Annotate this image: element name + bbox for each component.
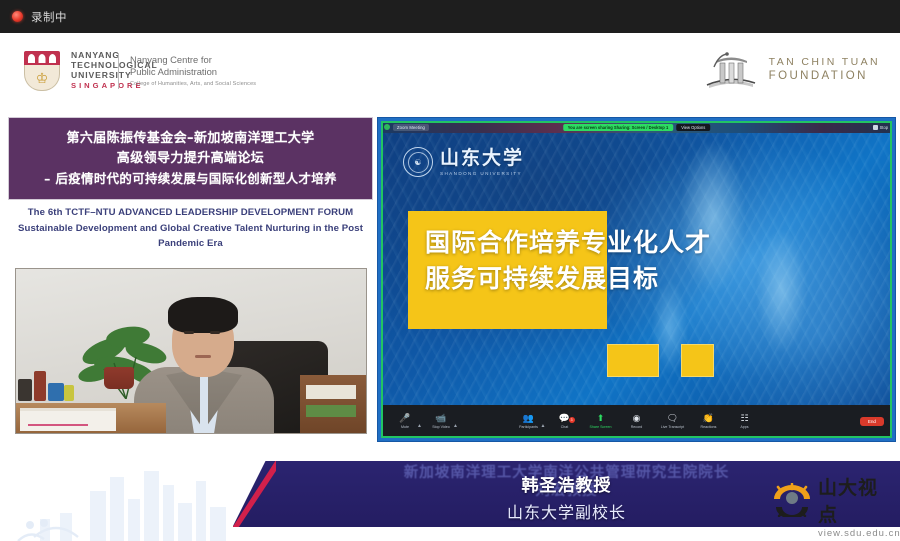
zoom-meeting-toolbar[interactable]: 🎤 Mute ▲ 📹 Stop Video ▲ 👥 Participants bbox=[381, 405, 892, 438]
watermark-text: 山大视点 bbox=[818, 473, 894, 527]
sdu-name-cn: 山东大学 bbox=[440, 148, 524, 169]
toolbar-center-group[interactable]: 👥 Participants ▲ 💬 Chat 3 ⬆ Share Screen bbox=[511, 414, 763, 429]
shared-screen-window[interactable]: Zoom Meeting You are screen sharing Shar… bbox=[377, 117, 896, 442]
share-screen-label: Share Screen bbox=[590, 425, 612, 429]
ncpa-wordmark: Nanyang Centre for Public Administration… bbox=[130, 54, 256, 87]
tan-chin-tuan-foundation-logo: TAN CHIN TUAN FOUNDATION bbox=[703, 49, 880, 91]
end-meeting-button[interactable]: End bbox=[860, 417, 884, 426]
green-status-dot-icon bbox=[384, 124, 390, 130]
shandong-university-seal-icon: ☯ bbox=[403, 147, 433, 177]
sdu-view-watermark: 山大视点 view.sdu.edu.cn bbox=[770, 477, 894, 535]
tan-chin-tuan-bridge-icon bbox=[703, 49, 759, 91]
forum-title-card: 第六届陈振传基金会–新加坡南洋理工大学 高级领导力提升高端论坛 – 后疫情时代的… bbox=[8, 117, 373, 200]
live-transcript-label: Live Transcript bbox=[661, 425, 684, 429]
record-dot-icon bbox=[12, 11, 23, 22]
share-screen-icon: ⬆ bbox=[597, 414, 605, 423]
record-button[interactable]: ◉ Record bbox=[619, 414, 655, 429]
recording-label: 录制中 bbox=[31, 9, 67, 25]
apps-label: Apps bbox=[740, 425, 748, 429]
forum-title-en-line-1: The 6th TCTF–NTU ADVANCED LEADERSHIP DEV… bbox=[8, 205, 373, 221]
shandong-university-logo: ☯ 山东大学 SHANDONG UNIVERSITY bbox=[403, 147, 524, 177]
shared-screen-content: Zoom Meeting You are screen sharing Shar… bbox=[381, 121, 892, 438]
forum-title-en-line-2: Sustainable Development and Global Creat… bbox=[8, 221, 373, 237]
microphone-icon: 🎤 bbox=[399, 414, 410, 423]
live-transcript-icon: 🗨 bbox=[667, 414, 678, 423]
tctf-line-1: TAN CHIN TUAN bbox=[769, 56, 880, 69]
tctf-wordmark: TAN CHIN TUAN FOUNDATION bbox=[769, 56, 880, 84]
chevron-up-icon[interactable]: ▲ bbox=[417, 423, 422, 429]
ncpa-line-3: College of Humanities, Arts, and Social … bbox=[130, 81, 256, 88]
live-transcript-button[interactable]: 🗨 Live Transcript bbox=[655, 414, 691, 429]
chevron-up-icon[interactable]: ▲ bbox=[453, 423, 458, 429]
participants-label: Participants bbox=[519, 425, 538, 429]
ncpa-line-2: Public Administration bbox=[130, 66, 256, 78]
brand-header: ♔ NANYANG TECHNOLOGICAL UNIVERSITY SINGA… bbox=[0, 33, 900, 111]
participants-button[interactable]: 👥 Participants ▲ bbox=[511, 414, 547, 429]
sdu-name-en: SHANDONG UNIVERSITY bbox=[440, 171, 524, 176]
reactions-button[interactable]: 👏 Reactions bbox=[691, 414, 727, 429]
camera-icon: 📹 bbox=[435, 414, 446, 423]
slide-headline-line-2: 服务可持续发展目标 bbox=[425, 261, 845, 297]
ntu-crest-icon: ♔ bbox=[22, 50, 62, 92]
slide-headline: 国际合作培养专业化人才 服务可持续发展目标 bbox=[425, 225, 845, 296]
chat-label: Chat bbox=[561, 425, 569, 429]
header-divider bbox=[118, 53, 119, 89]
zoom-window-chip: Zoom Meeting bbox=[393, 124, 429, 131]
forum-title-cn-line-1: 第六届陈振传基金会–新加坡南洋理工大学 bbox=[66, 129, 314, 149]
stop-video-label: Stop Video bbox=[432, 425, 450, 429]
zoom-titlebar: Zoom Meeting You are screen sharing Shar… bbox=[381, 121, 892, 133]
ncpa-line-1: Nanyang Centre for bbox=[130, 54, 256, 66]
titlebar-right-controls[interactable]: Stop bbox=[873, 125, 888, 130]
speaker-video-tile bbox=[15, 268, 367, 434]
stop-video-button[interactable]: 📹 Stop Video ▲ bbox=[423, 414, 459, 429]
shelf-right bbox=[300, 375, 366, 433]
forum-title-en: The 6th TCTF–NTU ADVANCED LEADERSHIP DEV… bbox=[8, 205, 373, 252]
stop-share-icon[interactable] bbox=[873, 125, 878, 130]
record-icon: ◉ bbox=[633, 414, 641, 423]
slide-accent-block-1 bbox=[607, 344, 659, 377]
record-label: Record bbox=[631, 425, 643, 429]
participants-icon: 👥 bbox=[523, 414, 534, 423]
mute-button[interactable]: 🎤 Mute ▲ bbox=[387, 414, 423, 429]
screen-sharing-banner: You are screen sharing Sharing: Screen /… bbox=[563, 124, 673, 131]
watermark-url: view.sdu.edu.cn bbox=[818, 528, 900, 539]
mute-label: Mute bbox=[401, 425, 409, 429]
titlebar-right-label: Stop bbox=[880, 125, 888, 130]
apps-icon: ☷ bbox=[740, 414, 748, 423]
reactions-icon: 👏 bbox=[703, 414, 714, 423]
forum-title-en-line-3: Pandemic Era bbox=[8, 236, 373, 252]
chat-badge: 3 bbox=[569, 417, 575, 423]
slide-headline-line-1: 国际合作培养专业化人才 bbox=[425, 225, 845, 261]
reactions-label: Reactions bbox=[701, 425, 717, 429]
share-screen-button[interactable]: ⬆ Share Screen bbox=[583, 414, 619, 429]
screen-root: 录制中 ♔ NANYANG TECHNOLOGICAL UNIVERSITY S… bbox=[0, 0, 900, 541]
chat-button[interactable]: 💬 Chat 3 bbox=[547, 414, 583, 429]
view-options-button[interactable]: View Options bbox=[676, 124, 710, 131]
chevron-up-icon[interactable]: ▲ bbox=[541, 423, 546, 429]
toolbar-left-group[interactable]: 🎤 Mute ▲ 📹 Stop Video ▲ bbox=[387, 414, 459, 429]
recording-topbar: 录制中 bbox=[0, 0, 900, 33]
forum-title-cn-line-2: 高级领导力提升高端论坛 bbox=[117, 149, 264, 169]
desk-objects bbox=[18, 365, 76, 413]
apps-button[interactable]: ☷ Apps bbox=[727, 414, 763, 429]
forum-title-cn-line-3: – 后疫情时代的可持续发展与国际化创新型人才培养 bbox=[44, 169, 337, 188]
presentation-slide: ☯ 山东大学 SHANDONG UNIVERSITY 国际合作培养专业化人才 服… bbox=[381, 133, 892, 407]
sdu-eye-logo-icon bbox=[770, 483, 814, 517]
tctf-line-2: FOUNDATION bbox=[769, 69, 880, 84]
papers-on-desk bbox=[20, 411, 116, 431]
slide-accent-block-2 bbox=[681, 344, 714, 377]
